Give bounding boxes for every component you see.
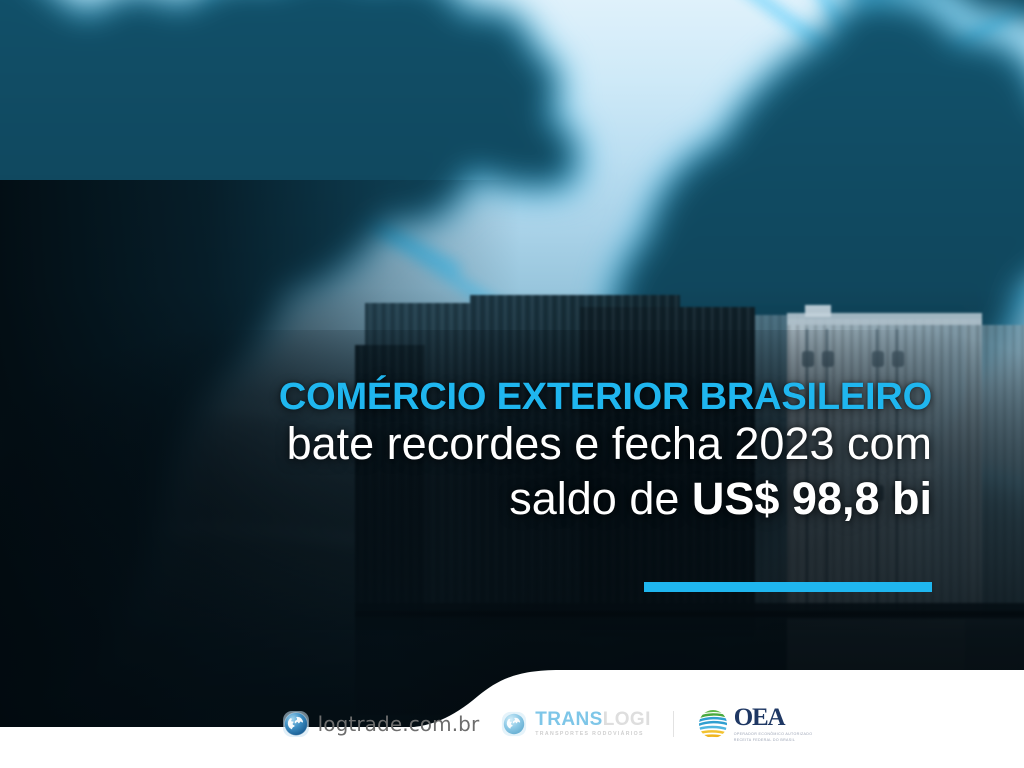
translogi-main-text: TRANSLOGI [535, 710, 651, 729]
translogi-trans: TRANS [535, 709, 602, 730]
globe-icon [501, 711, 527, 737]
globe-icon [282, 710, 310, 738]
logo-logtrade[interactable]: logtrade.com.br [282, 710, 480, 738]
logo-oea[interactable]: OEA OPERADOR ECONÔMICO AUTORIZADO RECEIT… [696, 705, 813, 743]
headline-line-1: COMÉRCIO EXTERIOR BRASILEIRO [60, 378, 932, 417]
logo-translogi[interactable]: TRANSLOGI TRANSPORTES RODOVIÁRIOS [501, 710, 651, 737]
oea-wordmark: OEA OPERADOR ECONÔMICO AUTORIZADO RECEIT… [734, 705, 813, 743]
logtrade-label: logtrade.com.br [318, 712, 480, 736]
oea-sub-line-1: OPERADOR ECONÔMICO AUTORIZADO [734, 732, 813, 737]
headline-line-2: bate recordes e fecha 2023 com [60, 417, 932, 472]
headline-block: COMÉRCIO EXTERIOR BRASILEIRO bate record… [60, 378, 932, 527]
headline-line-3: saldo de US$ 98,8 bi [60, 472, 932, 527]
poster-canvas: COMÉRCIO EXTERIOR BRASILEIRO bate record… [0, 0, 1024, 768]
accent-bar [644, 582, 932, 592]
oea-main-text: OEA [734, 705, 813, 730]
oea-sub-text: OPERADOR ECONÔMICO AUTORIZADO RECEITA FE… [734, 732, 813, 743]
translogi-tagline: TRANSPORTES RODOVIÁRIOS [535, 732, 651, 737]
oea-sub-line-2: RECEITA FEDERAL DO BRASIL [734, 738, 813, 743]
headline-value-highlight: US$ 98,8 bi [692, 473, 932, 524]
headline-line-3-prefix: saldo de [509, 473, 692, 524]
translogi-logi: LOGI [603, 709, 651, 730]
footer-bar: logtrade.com.br [0, 648, 1024, 768]
striped-globe-icon [696, 707, 730, 741]
logo-divider [673, 711, 674, 737]
footer-logos: logtrade.com.br [0, 680, 1024, 768]
translogi-wordmark: TRANSLOGI TRANSPORTES RODOVIÁRIOS [535, 710, 651, 737]
